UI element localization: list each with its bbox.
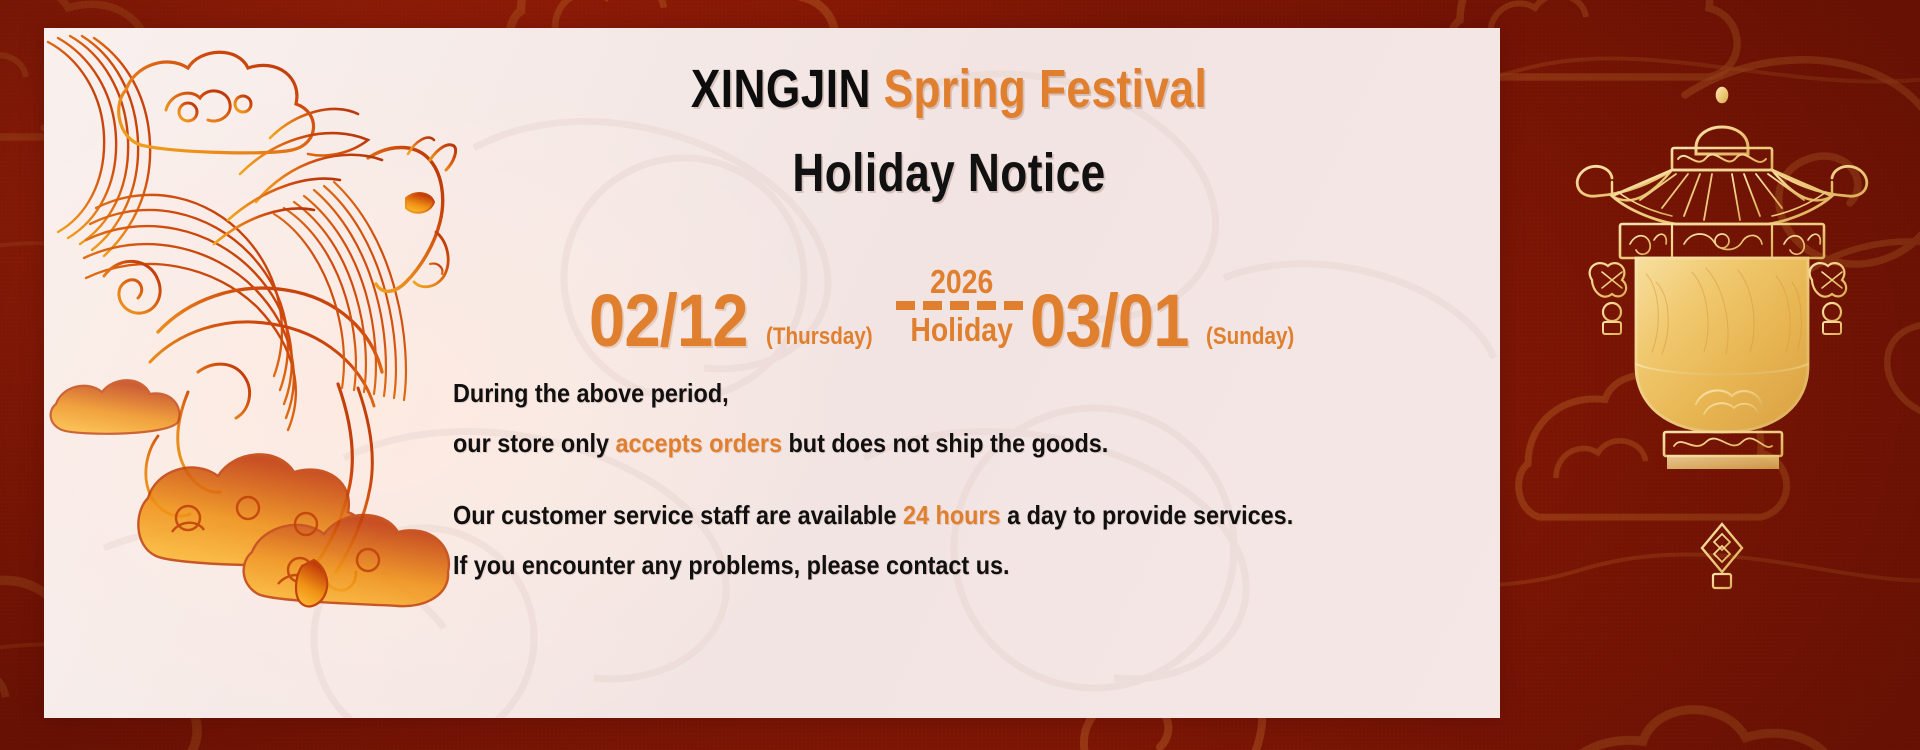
page-title-line-2: Holiday Notice [498,142,1400,204]
start-date: 02/12 [589,286,748,356]
body-line-1: During the above period, [453,380,1389,406]
end-date: 03/01 [1030,286,1189,356]
holiday-divider: 2026 Holiday [896,265,1028,346]
twenty-four-hours-highlight: 24 hours [903,500,1001,530]
page-title-line-1: XINGJIN Spring Festival [498,58,1400,120]
start-day-name: (Thursday) [766,323,873,351]
holiday-date-range: 02/12 (Thursday) 2026 Holiday 03/01 (Sun… [399,246,1499,356]
chinese-lantern-illustration [1556,0,1920,656]
end-day-name: (Sunday) [1206,323,1294,351]
body-line-2-part-b: but does not ship the goods. [782,428,1108,458]
end-date-group: 03/01 (Sunday) [1030,286,1309,356]
body-line-3: Our customer service staff are available… [453,502,1389,528]
horse-illustration [44,32,458,612]
start-date-group: 02/12 (Thursday) [589,286,889,356]
spring-festival-holiday-banner: XINGJIN Spring Festival Holiday Notice 0… [0,0,1920,750]
holiday-year: 2026 [930,265,993,298]
body-line-3-part-a: Our customer service staff are available [453,500,903,530]
holiday-word: Holiday [910,313,1013,346]
body-line-3-part-b: a day to provide services. [1001,500,1294,530]
brand-name: XINGJIN [691,59,871,119]
body-line-4: If you encounter any problems, please co… [453,552,1389,578]
body-line-2-part-a: our store only [453,428,616,458]
notice-panel: XINGJIN Spring Festival Holiday Notice 0… [44,28,1500,718]
notice-body: During the above period, our store only … [453,380,1493,578]
accepts-orders-highlight: accepts orders [616,428,782,458]
notice-content: XINGJIN Spring Festival Holiday Notice 0… [399,28,1499,718]
dashed-rule [896,301,1028,310]
body-line-2: our store only accepts orders but does n… [453,430,1389,456]
festival-name: Spring Festival [884,59,1208,119]
